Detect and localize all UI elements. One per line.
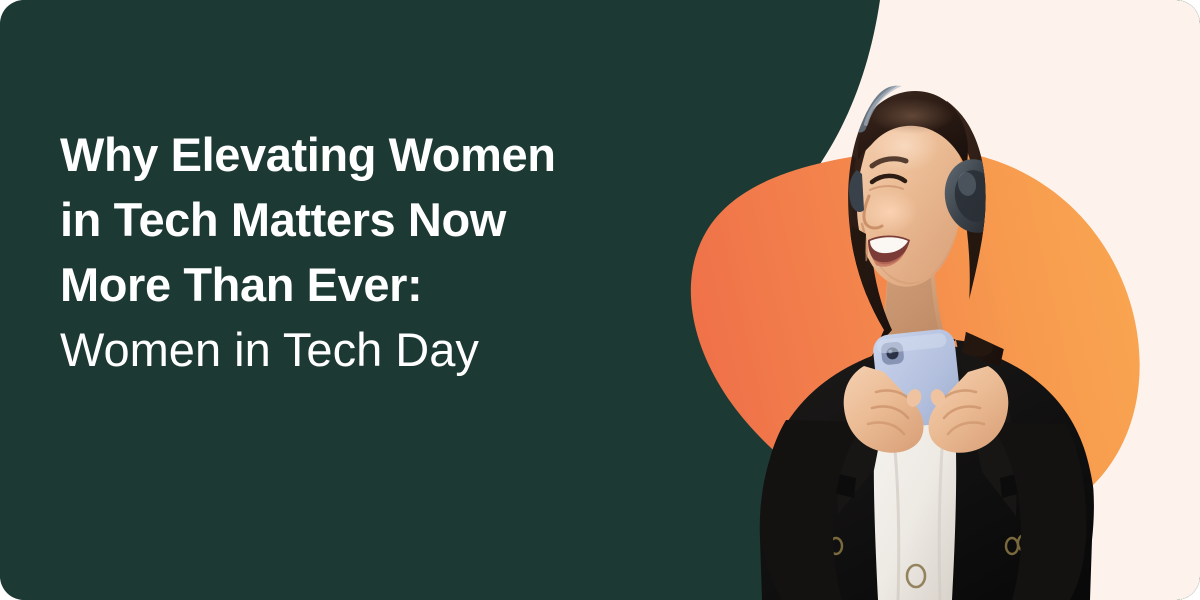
headline-line-1: Why Elevating Women xyxy=(60,122,720,187)
hair-sheen xyxy=(870,98,954,134)
headline-line-4: Women in Tech Day xyxy=(60,317,720,382)
headline-line-2: in Tech Matters Now xyxy=(60,187,720,252)
page-title: Why Elevating Women in Tech Matters Now … xyxy=(60,122,720,382)
article-hero-banner: Why Elevating Women in Tech Matters Now … xyxy=(0,0,1200,600)
headline-line-3: More Than Ever: xyxy=(60,252,720,317)
